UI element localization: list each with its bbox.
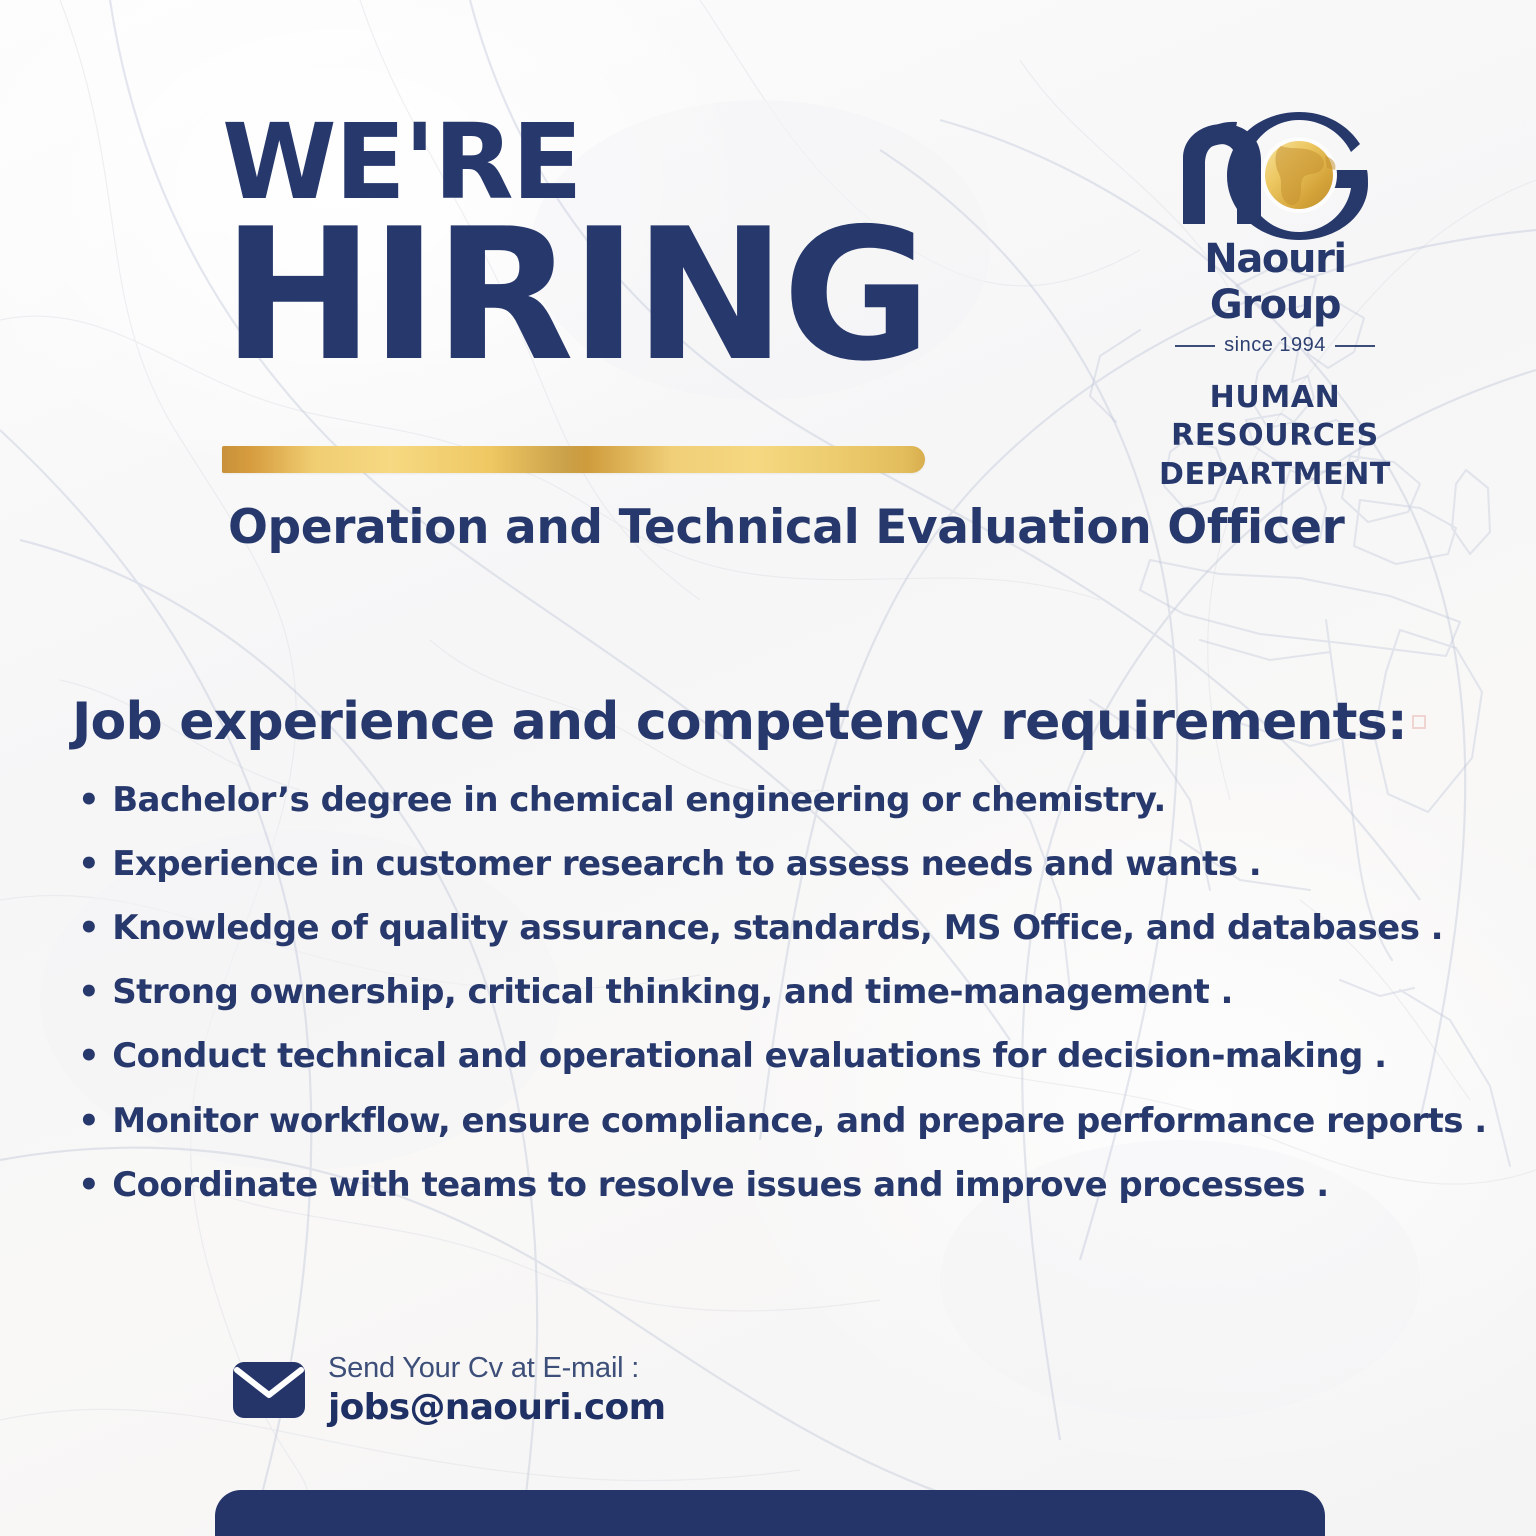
bullet-glyph: • bbox=[78, 1039, 99, 1073]
list-item-text: Conduct technical and operational evalua… bbox=[112, 1036, 1386, 1076]
requirements-heading: Job experience and competency requiremen… bbox=[72, 692, 1372, 752]
list-item: • Conduct technical and operational eval… bbox=[78, 1036, 1498, 1076]
list-item: • Experience in customer research to ass… bbox=[78, 844, 1498, 884]
requirements-list: • Bachelor’s degree in chemical engineer… bbox=[78, 780, 1498, 1229]
list-item-text: Bachelor’s degree in chemical engineerin… bbox=[112, 780, 1166, 820]
list-item: • Strong ownership, critical thinking, a… bbox=[78, 972, 1498, 1012]
list-item: • Bachelor’s degree in chemical engineer… bbox=[78, 780, 1498, 820]
bullet-glyph: • bbox=[78, 1168, 99, 1202]
department-line-1: HUMAN bbox=[1140, 379, 1410, 417]
list-item-text: Strong ownership, critical thinking, and… bbox=[112, 972, 1233, 1012]
contact-email[interactable]: jobs@naouri.com bbox=[328, 1388, 665, 1428]
brand-name: Naouri Group bbox=[1140, 236, 1410, 328]
since-rule-right bbox=[1335, 345, 1375, 347]
bullet-glyph: • bbox=[78, 911, 99, 945]
list-item: • Monitor workflow, ensure compliance, a… bbox=[78, 1101, 1498, 1141]
headline-line-2: HIRING bbox=[222, 207, 982, 384]
since-label: since 1994 bbox=[1224, 334, 1326, 357]
department-line-2: RESOURCES bbox=[1140, 417, 1410, 455]
bullet-glyph: • bbox=[78, 847, 99, 881]
list-item-text: Monitor workflow, ensure compliance, and… bbox=[112, 1101, 1486, 1141]
bullet-glyph: • bbox=[78, 975, 99, 1009]
hiring-poster: WE'RE HIRING Operation and Technical Eva… bbox=[0, 0, 1536, 1536]
bottom-navy-bar bbox=[215, 1490, 1325, 1536]
brand-logo-block: Naouri Group since 1994 HUMAN RESOURCES … bbox=[1140, 112, 1410, 494]
list-item-text: Coordinate with teams to resolve issues … bbox=[112, 1165, 1328, 1205]
gold-divider-bar bbox=[222, 446, 925, 473]
since-row: since 1994 bbox=[1140, 334, 1410, 357]
list-item: • Coordinate with teams to resolve issue… bbox=[78, 1165, 1498, 1205]
envelope-icon bbox=[232, 1361, 306, 1419]
naouri-group-globe-logo-icon bbox=[1175, 112, 1375, 240]
contact-block[interactable]: Send Your Cv at E-mail : jobs@naouri.com bbox=[232, 1352, 665, 1429]
contact-text: Send Your Cv at E-mail : jobs@naouri.com bbox=[328, 1352, 665, 1429]
list-item: • Knowledge of quality assurance, standa… bbox=[78, 908, 1498, 948]
list-item-text: Experience in customer research to asses… bbox=[112, 844, 1261, 884]
since-rule-left bbox=[1175, 345, 1215, 347]
department-line-3: DEPARTMENT bbox=[1140, 456, 1410, 494]
bullet-glyph: • bbox=[78, 783, 99, 817]
list-item-text: Knowledge of quality assurance, standard… bbox=[112, 908, 1443, 948]
department-label: HUMAN RESOURCES DEPARTMENT bbox=[1140, 379, 1410, 494]
job-title: Operation and Technical Evaluation Offic… bbox=[228, 500, 1328, 555]
headline: WE'RE HIRING bbox=[222, 112, 982, 383]
contact-label: Send Your Cv at E-mail : bbox=[328, 1352, 665, 1384]
bullet-glyph: • bbox=[78, 1104, 99, 1138]
